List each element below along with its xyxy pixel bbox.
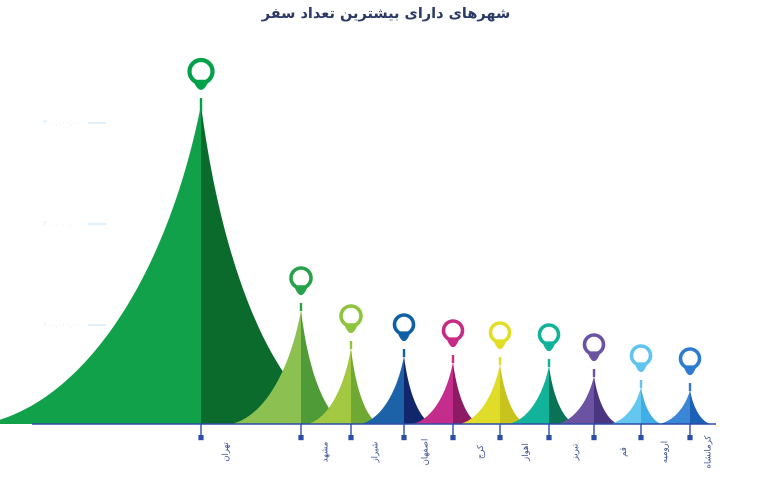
map-pin-4[interactable]: [444, 321, 463, 363]
spike-group-9[interactable]: [658, 349, 711, 424]
spike-light-half: [459, 364, 526, 424]
y-axis-tick-label: ۳۰۰,۰۰۰,۰۰۰: [22, 118, 84, 127]
x-axis-city-label: کرمانشاه: [704, 436, 714, 469]
chart-svg: [0, 0, 772, 496]
pin-stem: [350, 341, 352, 349]
spike-light-half: [361, 356, 433, 424]
pin-stem: [403, 349, 405, 357]
map-pin-8[interactable]: [632, 346, 651, 388]
pin-stem: [593, 369, 595, 377]
x-axis-label-wrap-0: تهران: [166, 446, 236, 458]
map-pin-7[interactable]: [585, 335, 604, 377]
x-axis-tick-cap: [348, 435, 353, 440]
pin-stem: [689, 383, 691, 391]
x-axis-tick-cap: [298, 435, 303, 440]
map-pin-9[interactable]: [681, 349, 700, 391]
pin-stem: [300, 303, 302, 311]
map-pin-5[interactable]: [491, 323, 510, 365]
spike-group-4[interactable]: [412, 321, 479, 424]
chart-root: شهرهای دارای بیشترین تعداد سفر ۱۰۰,۰۰۰,۰…: [0, 0, 772, 496]
y-axis-tick-label: ۱۰۰,۰۰۰,۰۰۰: [22, 320, 84, 329]
x-axis-tick-cap: [450, 435, 455, 440]
map-pin-1[interactable]: [291, 268, 311, 311]
chart-plot-area: ۱۰۰,۰۰۰,۰۰۰۲۰۰,۰۰۰,۰۰۰۳۰۰,۰۰۰,۰۰۰ تهرانم…: [0, 0, 772, 496]
pin-stem: [200, 98, 202, 112]
spike-light-half: [508, 366, 575, 424]
x-axis-tick-cap: [546, 435, 551, 440]
spike-group-7[interactable]: [556, 335, 618, 424]
x-axis-tick-cap: [401, 435, 406, 440]
pin-ring-icon: [540, 325, 559, 344]
x-axis-tick-cap: [591, 435, 596, 440]
x-axis-tick-cap: [638, 435, 643, 440]
pin-ring-icon: [632, 346, 651, 365]
map-pin-3[interactable]: [395, 315, 414, 357]
pin-stem: [452, 355, 454, 363]
x-axis-tick-cap: [687, 435, 692, 440]
pin-ring-icon: [291, 268, 311, 288]
spike-group-6[interactable]: [508, 325, 575, 424]
spike-light-half: [658, 390, 711, 424]
spike-light-half: [609, 387, 662, 424]
map-pin-0[interactable]: [190, 60, 213, 112]
spike-group-5[interactable]: [459, 323, 526, 424]
pin-ring-icon: [444, 321, 463, 340]
pin-ring-icon: [491, 323, 510, 342]
spike-group-8[interactable]: [609, 346, 662, 424]
x-axis-tick-cap: [497, 435, 502, 440]
pin-ring-icon: [681, 349, 700, 368]
pin-ring-icon: [395, 315, 414, 334]
spike-group-3[interactable]: [361, 315, 433, 424]
pin-stem: [640, 380, 642, 388]
x-axis-city-label: تهران: [221, 442, 231, 462]
y-axis-tick-label: ۲۰۰,۰۰۰,۰۰۰: [22, 219, 84, 228]
map-pin-6[interactable]: [540, 325, 559, 367]
x-axis-tick-cap: [198, 435, 203, 440]
spike-light-half: [412, 362, 479, 424]
map-pin-2[interactable]: [341, 306, 361, 349]
pin-stem: [548, 359, 550, 367]
pin-ring-icon: [190, 60, 213, 83]
pin-stem: [499, 357, 501, 365]
x-axis-label-wrap-9: کرمانشاه: [655, 446, 725, 458]
pin-ring-icon: [585, 335, 604, 354]
pin-ring-icon: [341, 306, 361, 326]
